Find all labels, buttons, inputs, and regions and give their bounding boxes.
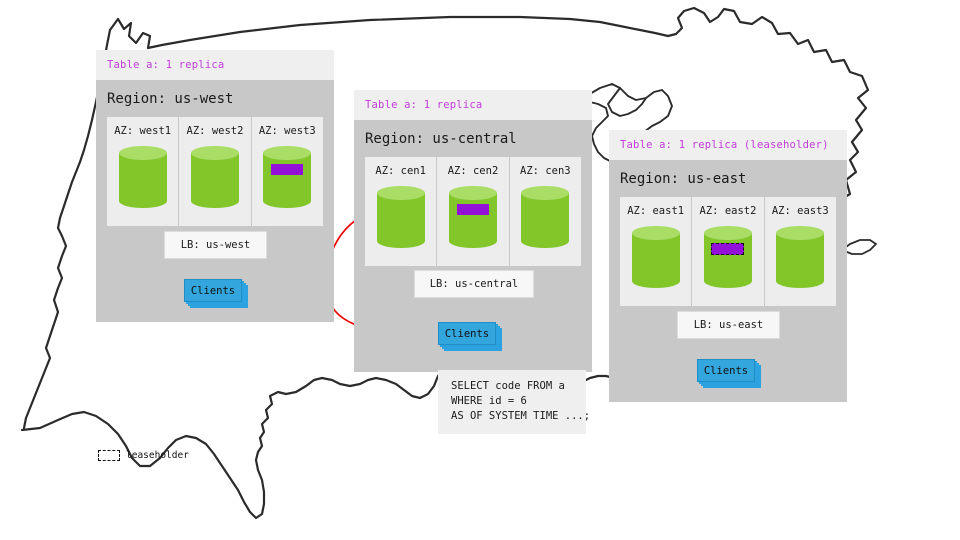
az-label: AZ: east1: [620, 205, 691, 217]
legend: leaseholder: [98, 450, 189, 461]
az-west3[interactable]: AZ: west3: [252, 117, 323, 226]
az-west1[interactable]: AZ: west1: [107, 117, 179, 226]
az-east2[interactable]: AZ: east2: [692, 197, 764, 306]
az-label: AZ: cen1: [365, 165, 436, 177]
az-cen2[interactable]: AZ: cen2: [437, 157, 509, 266]
lb-us-west[interactable]: LB: us-west: [164, 231, 267, 259]
node-cylinder[interactable]: [632, 226, 680, 288]
lb-us-east[interactable]: LB: us-east: [677, 311, 780, 339]
region-panel-us-west: Table a: 1 replica Region: us-west AZ: w…: [96, 50, 334, 322]
replica-block: [457, 204, 489, 215]
region-title-us-central: Table a: 1 replica: [354, 90, 592, 120]
az-label: AZ: west1: [107, 125, 178, 137]
node-cylinder[interactable]: [449, 186, 497, 248]
az-label: AZ: east2: [692, 205, 763, 217]
region-name-us-east: Region: us-east: [609, 160, 847, 197]
region-title-us-west: Table a: 1 replica: [96, 50, 334, 80]
az-east3[interactable]: AZ: east3: [765, 197, 836, 306]
az-label: AZ: east3: [765, 205, 836, 217]
az-label: AZ: west3: [252, 125, 323, 137]
region-name-us-central: Region: us-central: [354, 120, 592, 157]
az-label: AZ: cen2: [437, 165, 508, 177]
az-cen3[interactable]: AZ: cen3: [510, 157, 581, 266]
cylinder-icon: [632, 226, 680, 288]
cylinder-icon: [449, 186, 497, 248]
replica-block-leaseholder: [711, 243, 744, 255]
node-cylinder[interactable]: [704, 226, 752, 288]
clients-us-east[interactable]: Clients: [697, 359, 759, 385]
cylinder-icon: [191, 146, 239, 208]
clients-us-west[interactable]: Clients: [184, 279, 246, 305]
sql-query-box: SELECT code FROM a WHERE id = 6 AS OF SY…: [438, 370, 586, 434]
cylinder-icon: [377, 186, 425, 248]
region-name-us-west: Region: us-west: [96, 80, 334, 117]
clients-label: Clients: [184, 279, 242, 302]
legend-label: leaseholder: [126, 450, 189, 461]
az-cen1[interactable]: AZ: cen1: [365, 157, 437, 266]
az-row-us-central: AZ: cen1 AZ: cen2 AZ: cen3: [365, 157, 581, 266]
lb-us-central[interactable]: LB: us-central: [414, 270, 534, 298]
node-cylinder[interactable]: [119, 146, 167, 208]
node-cylinder[interactable]: [263, 146, 311, 208]
cylinder-icon: [776, 226, 824, 288]
az-east1[interactable]: AZ: east1: [620, 197, 692, 306]
region-panel-us-central: Table a: 1 replica Region: us-central AZ…: [354, 90, 592, 372]
az-west2[interactable]: AZ: west2: [179, 117, 251, 226]
node-cylinder[interactable]: [377, 186, 425, 248]
cylinder-icon: [119, 146, 167, 208]
node-cylinder[interactable]: [191, 146, 239, 208]
cylinder-icon: [521, 186, 569, 248]
region-panel-us-east: Table a: 1 replica (leaseholder) Region:…: [609, 130, 847, 402]
clients-us-central[interactable]: Clients: [438, 322, 500, 348]
az-row-us-west: AZ: west1 AZ: west2 AZ: west3: [107, 117, 323, 226]
az-label: AZ: cen3: [510, 165, 581, 177]
az-row-us-east: AZ: east1 AZ: east2 AZ: east3: [620, 197, 836, 306]
az-label: AZ: west2: [179, 125, 250, 137]
replica-block: [271, 164, 303, 175]
cylinder-icon: [704, 226, 752, 288]
clients-label: Clients: [697, 359, 755, 382]
leaseholder-swatch-icon: [98, 450, 120, 461]
node-cylinder[interactable]: [776, 226, 824, 288]
diagram-canvas: 1 2 3 4 5 Table a: 1 replica Region: us-…: [0, 0, 960, 540]
cylinder-icon: [263, 146, 311, 208]
node-cylinder[interactable]: [521, 186, 569, 248]
clients-label: Clients: [438, 322, 496, 345]
region-title-us-east: Table a: 1 replica (leaseholder): [609, 130, 847, 160]
